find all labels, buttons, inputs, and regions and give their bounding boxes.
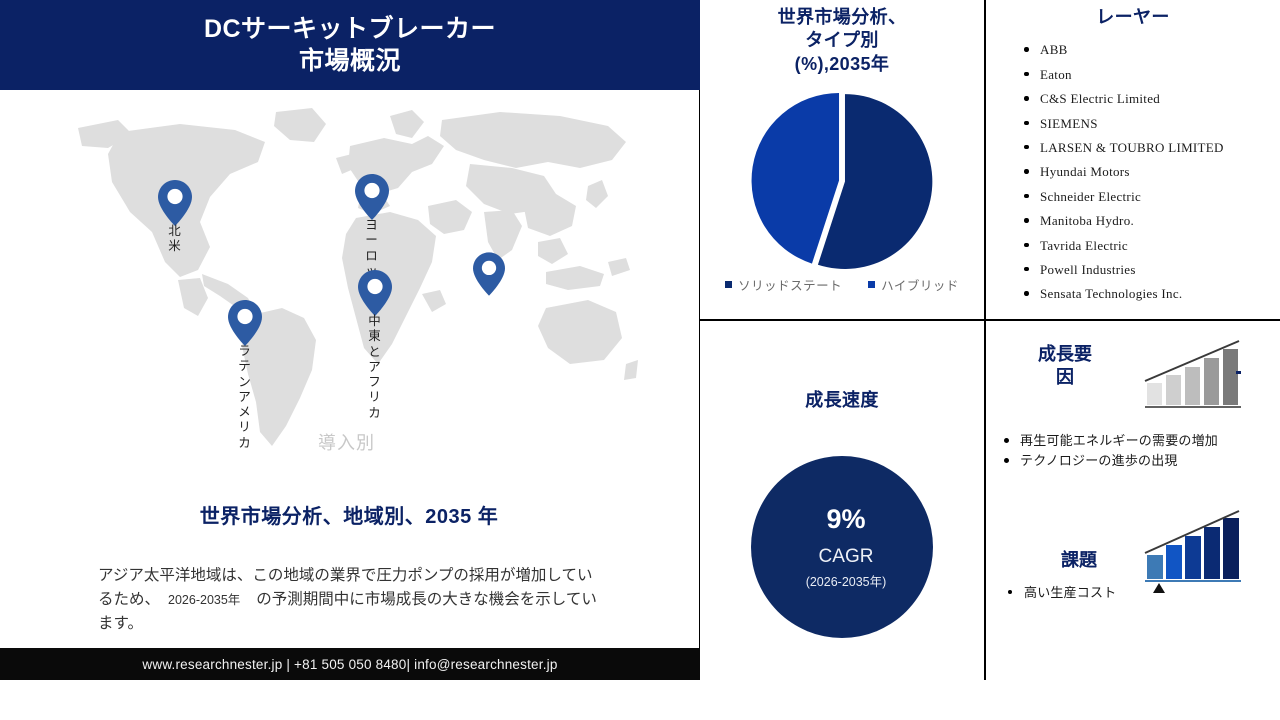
cagr-percent: 9% (826, 506, 865, 533)
location-pin-icon (158, 180, 192, 226)
list-item[interactable]: 高い生産コスト (1004, 583, 1274, 603)
drivers-title: 成長要 因 (1010, 343, 1120, 389)
list-item[interactable]: LARSEN & TOUBRO LIMITED (1024, 141, 1272, 165)
drivers-bullet-list: 再生可能エネルギーの需要の増加 テクノロジーの進歩の出現 (986, 431, 1280, 471)
list-item[interactable]: Powell Industries (1024, 263, 1272, 287)
list-item[interactable]: C&S Electric Limited (1024, 92, 1272, 116)
page-title: DCサーキットブレーカー 市場概況 (204, 13, 496, 77)
footer-contact-text[interactable]: www.researchnester.jp | +81 505 050 8480… (142, 657, 557, 672)
title-line-2: 市場概況 (204, 45, 496, 77)
world-map-icon (60, 102, 640, 472)
growth-drivers-section: 成長要 因 再生可能エネルギーの需要の増加 テクノロジーの進歩の出現 (986, 321, 1280, 501)
title-banner: DCサーキットブレーカー 市場概況 (0, 0, 700, 90)
cagr-period: (2026-2035年) (806, 576, 887, 589)
location-pin-icon (228, 300, 262, 346)
legend-swatch-hybrid (868, 281, 875, 288)
list-item[interactable]: Tavrida Electric (1024, 239, 1272, 263)
title-line-1: DCサーキットブレーカー (204, 15, 496, 43)
pie-slice-hybrid[interactable] (752, 93, 839, 264)
challenges-header-row: 課題 (986, 501, 1280, 585)
players-panel-title: レーヤー (986, 0, 1280, 29)
region-description: アジア太平洋地域は、この地域の業界で圧力ポンプの採用が増加しているため、2026… (98, 564, 598, 636)
location-pin-icon (473, 252, 505, 296)
list-item[interactable]: テクノロジーの進歩の出現 (1000, 451, 1270, 471)
list-item[interactable]: Hyundai Motors (1024, 165, 1272, 189)
list-item[interactable]: SIEMENS (1024, 117, 1272, 141)
market-type-pie-panel: 世界市場分析、 タイプ別 (%),2035年 ソリッドステート ハイブリッド (700, 0, 985, 320)
challenges-section: 課題 高い生産コスト (986, 501, 1280, 681)
growth-rate-title: 成長速度 (700, 321, 984, 412)
list-item[interactable]: Manitoba Hydro. (1024, 214, 1272, 238)
list-item[interactable]: Eaton (1024, 68, 1272, 92)
map-pin-label-latin-america: ラテン アメリ カ (238, 344, 252, 451)
pie-chart (749, 88, 935, 279)
regional-analysis-panel: DCサーキットブレーカー 市場概況 (0, 0, 700, 680)
map-pin-label-north-america: 北米 (168, 224, 182, 255)
list-item[interactable]: 再生可能エネルギーの需要の増加 (1000, 431, 1270, 451)
challenges-bullet-list: 高い生産コスト (990, 583, 1280, 603)
map-watermark: 導入別 (318, 429, 375, 455)
ascending-bar-chart-gray-icon (1141, 339, 1245, 411)
drivers-header-row: 成長要 因 (986, 321, 1280, 405)
location-pin-icon (355, 174, 389, 220)
legend-swatch-solid-state (725, 281, 732, 288)
drivers-and-challenges-panel: 成長要 因 再生可能エネルギーの需要の増加 テクノロジーの進歩の出現 (985, 320, 1280, 680)
world-map-area: 導入別 北米 ヨーロッパ (0, 92, 698, 482)
pie-chart-svg (749, 88, 935, 274)
list-item[interactable]: ABB (1024, 43, 1272, 67)
challenges-title: 課題 (1024, 549, 1134, 572)
map-pin-label-middle-east-africa: 中東とアフ リカ (368, 314, 382, 421)
challenges-bullet-list-wrap: 高い生産コスト (990, 583, 1280, 603)
infographic-root: DCサーキットブレーカー 市場概況 (0, 0, 1280, 720)
drivers-bullet-list-wrap: 再生可能エネルギーの需要の増加 テクノロジーの進歩の出現 (986, 431, 1280, 471)
list-item[interactable]: Sensata Technologies Inc. (1024, 287, 1272, 311)
pie-chart-title: 世界市場分析、 タイプ別 (%),2035年 (700, 0, 984, 76)
cagr-circle: 9% CAGR (2026-2035年) (751, 456, 933, 638)
legend-item-solid-state[interactable]: ソリッドステート (725, 275, 842, 294)
region-description-years: 2026-2035年 (160, 593, 256, 607)
growth-rate-panel: 成長速度 9% CAGR (2026-2035年) (700, 320, 985, 680)
legend-label-hybrid: ハイブリッド (881, 275, 959, 294)
legend-label-solid-state: ソリッドステート (738, 275, 842, 294)
footer-bar: www.researchnester.jp | +81 505 050 8480… (0, 648, 700, 680)
list-item[interactable]: Schneider Electric (1024, 190, 1272, 214)
region-heading: 世界市場分析、地域別、2035 年 (0, 500, 698, 529)
pie-chart-legend: ソリッドステート ハイブリッド (700, 275, 984, 294)
location-pin-icon (358, 270, 392, 316)
players-list: ABB Eaton C&S Electric Limited SIEMENS L… (986, 43, 1280, 311)
cagr-label: CAGR (819, 547, 874, 566)
legend-item-hybrid[interactable]: ハイブリッド (868, 275, 959, 294)
key-players-panel: レーヤー ABB Eaton C&S Electric Limited SIEM… (985, 0, 1280, 320)
